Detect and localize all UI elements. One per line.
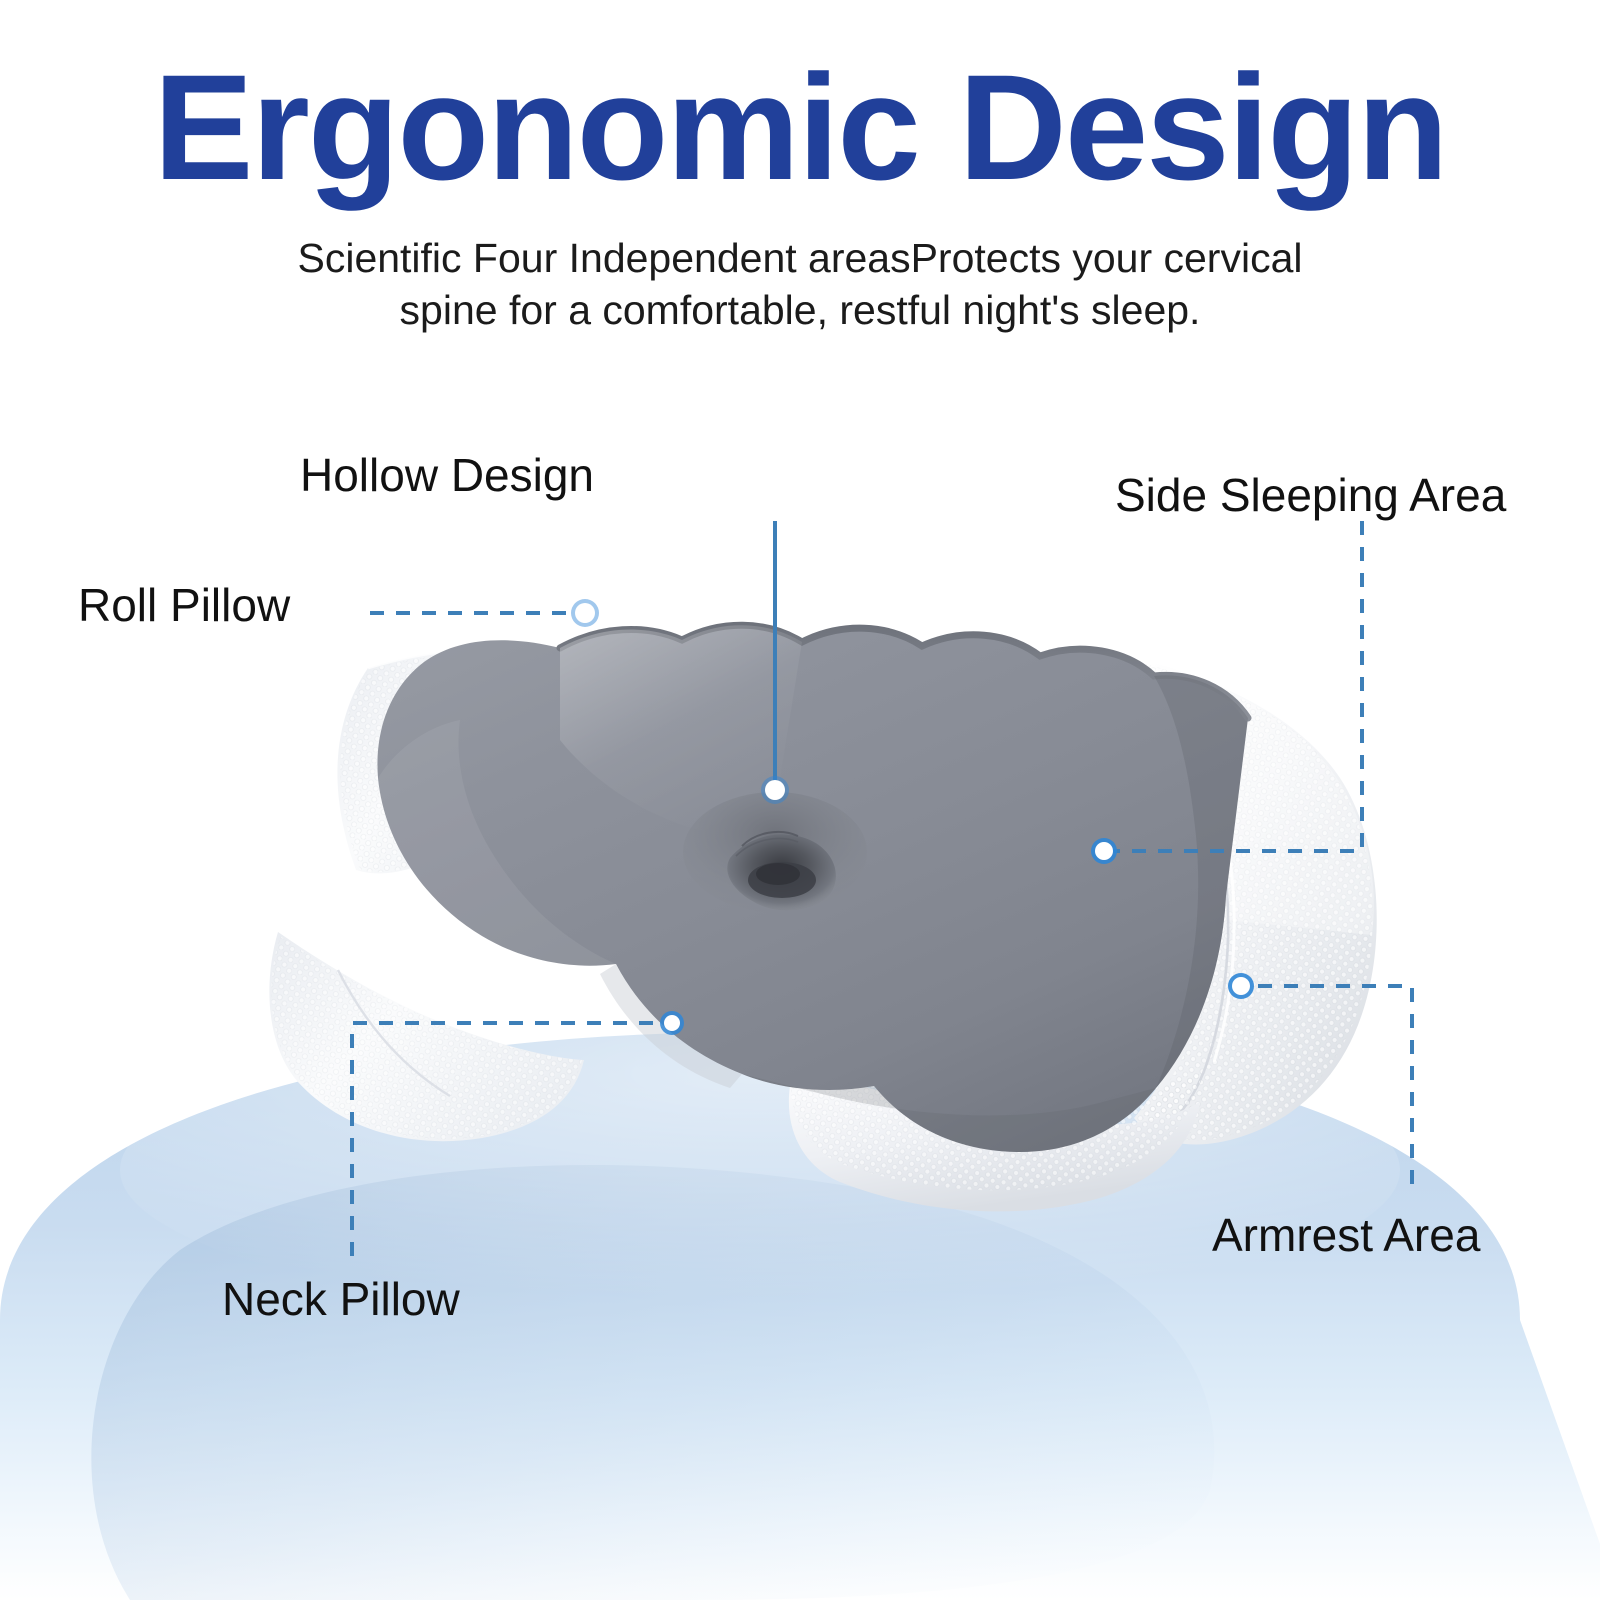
pillow-illustration: [130, 540, 1470, 1220]
page-title: Ergonomic Design: [0, 52, 1600, 202]
callout-label-roll-pillow: Roll Pillow: [78, 578, 290, 632]
subtitle-line-2: spine for a comfortable, restful night's…: [200, 284, 1400, 336]
callout-label-side-sleeping: Side Sleeping Area: [1115, 468, 1506, 522]
page-subtitle: Scientific Four Independent areasProtect…: [200, 232, 1400, 337]
callout-label-neck-pillow: Neck Pillow: [222, 1272, 460, 1326]
callout-label-hollow-design: Hollow Design: [300, 448, 594, 502]
hollow-dimple: [683, 792, 867, 912]
callout-label-armrest-area: Armrest Area: [1212, 1208, 1480, 1262]
header: Ergonomic Design Scientific Four Indepen…: [0, 0, 1600, 360]
subtitle-line-1: Scientific Four Independent areasProtect…: [200, 232, 1400, 284]
